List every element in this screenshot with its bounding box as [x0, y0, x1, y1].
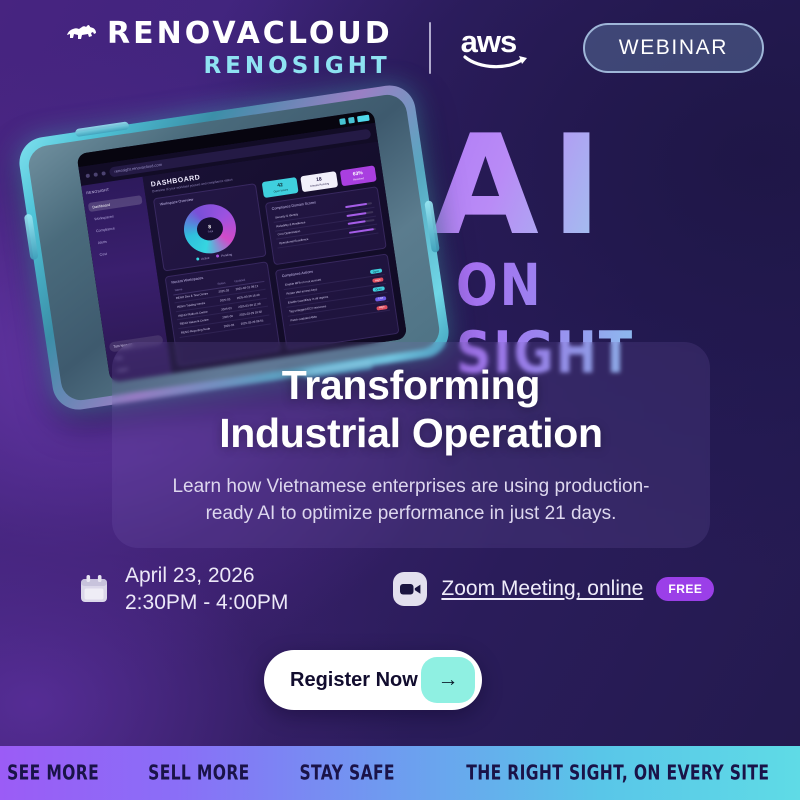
tagline-ticker: SEE MORE SELL MORE STAY SAFE THE RIGHT S… — [0, 746, 800, 800]
stat-card-checks-running: 18 Checks Running — [301, 171, 338, 192]
aws-logo: aws — [461, 26, 533, 70]
status-badge: High — [376, 305, 388, 311]
register-now-button[interactable]: Register Now → — [264, 650, 482, 710]
brand-primary-row: RENOVACLOUD — [66, 19, 393, 49]
signal-icon — [348, 116, 355, 123]
webinar-poster: RENOVACLOUD RENOSIGHT aws WEBINAR AI ON … — [0, 0, 800, 800]
status-badge: Open — [372, 287, 385, 293]
content-card: Transforming Industrial Operation Learn … — [112, 342, 710, 548]
rhino-icon — [66, 23, 100, 44]
sidebar-brand: RENOSIGHT — [86, 183, 140, 195]
compliance-scores-panel: Compliance Domain Scores Security & Iden… — [265, 186, 387, 265]
event-datetime: April 23, 2026 2:30PM - 4:00PM — [125, 562, 288, 617]
video-camera-icon — [392, 571, 428, 607]
webinar-badge: WEBINAR — [583, 23, 764, 73]
browser-reload-icon[interactable] — [101, 171, 106, 176]
event-details-row: April 23, 2026 2:30PM - 4:00PM Zoom Meet… — [78, 560, 738, 618]
workspace-overview-panel: Workspace Overview 8 Total Active — [153, 183, 267, 271]
legend-label-active: Active — [201, 255, 210, 260]
ticker-item-tagline: THE RIGHT SIGHT, ON EVERY SITE — [467, 761, 770, 784]
aws-smile-icon — [463, 53, 531, 71]
status-badge: Open — [370, 269, 383, 275]
stat-card-open-issues: 42 Open Issues — [262, 177, 299, 198]
renovacloud-logo[interactable]: RENOVACLOUD RENOSIGHT — [66, 19, 393, 78]
app-main-content: DASHBOARD Overview of your workload post… — [143, 142, 408, 374]
event-date: April 23, 2026 — [125, 562, 288, 589]
hero-title-block: AI ON SIGHT — [432, 122, 732, 366]
page-subtitle: Learn how Vietnamese enterprises are usi… — [152, 474, 670, 528]
browser-back-icon[interactable] — [85, 173, 90, 178]
donut-center-caption: Total — [207, 230, 213, 234]
legend-item-active: Active — [196, 255, 210, 261]
donut-center-label: 8 Total — [181, 201, 240, 257]
status-badge: Low — [375, 296, 386, 302]
battery-icon — [357, 114, 370, 122]
calendar-icon — [78, 573, 110, 605]
compliance-actions-panel: Compliance Actions Enable MFA on root ac… — [275, 253, 400, 350]
cell-status: 2025-03 — [221, 320, 239, 331]
arrow-right-icon: → — [421, 657, 475, 703]
hero-ai-text: AI — [432, 122, 732, 250]
dashboard-columns: Workspace Overview 8 Total Active — [153, 165, 400, 366]
event-date-group: April 23, 2026 2:30PM - 4:00PM — [78, 562, 288, 617]
wifi-icon — [339, 118, 346, 125]
legend-dot-pending — [216, 254, 219, 257]
headline-line-2: Industrial Operation — [219, 410, 603, 458]
dashboard-right-column: 42 Open Issues 18 Checks Running 63% — [262, 165, 400, 350]
event-time: 2:30PM - 4:00PM — [125, 589, 288, 616]
ticker-item-sell-more: SELL MORE — [148, 761, 249, 784]
legend-item-pending: Pending — [216, 252, 232, 258]
price-badge: FREE — [656, 577, 714, 601]
workspace-donut-chart: 8 Total — [181, 201, 240, 257]
page-title: Transforming Industrial Operation — [219, 362, 603, 457]
register-button-label: Register Now — [290, 669, 418, 692]
status-badge: High — [372, 278, 384, 284]
workspace-overview-title: Workspace Overview — [160, 198, 194, 207]
legend-dot-active — [196, 257, 199, 260]
ticker-item-stay-safe: STAY SAFE — [299, 761, 394, 784]
browser-forward-icon[interactable] — [93, 172, 98, 177]
legend-label-pending: Pending — [221, 252, 232, 258]
zoom-meeting-link[interactable]: Zoom Meeting, online — [441, 577, 643, 601]
dashboard-left-column: Workspace Overview 8 Total Active — [153, 183, 281, 367]
ticker-item-see-more: SEE MORE — [7, 761, 99, 784]
stat-card-resolved: 63% Resolved — [339, 165, 376, 186]
event-location-group: Zoom Meeting, online FREE — [392, 571, 714, 607]
recent-workspaces-table: Name Status Updated RENO Dev & Test Cent… — [172, 274, 271, 338]
headline-line-1: Transforming — [219, 362, 603, 410]
brand-name: RENOVACLOUD — [107, 19, 393, 49]
